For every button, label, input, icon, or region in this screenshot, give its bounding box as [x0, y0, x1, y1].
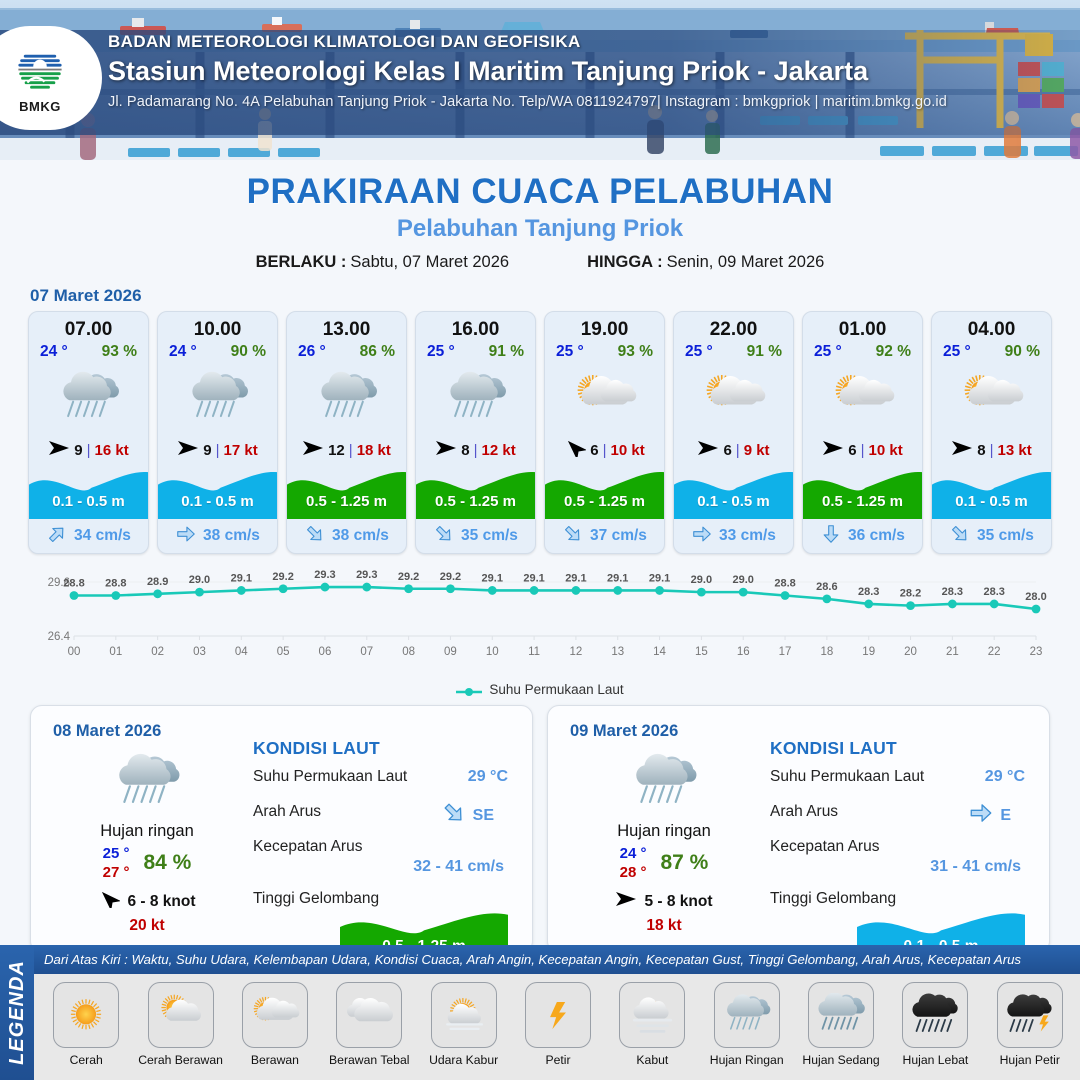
daily-temp-min: 25 ° [103, 845, 130, 862]
card-current-speed: 38 cm/s [203, 527, 260, 545]
current-direction-arrow-icon [968, 800, 994, 831]
card-wind: 8 | 12 kt [416, 435, 535, 465]
svg-text:28.3: 28.3 [942, 586, 963, 598]
current-direction-label: Arah Arus [770, 803, 838, 820]
berlaku-group: BERLAKU :Sabtu, 07 Maret 2026 [256, 253, 509, 272]
card-current-speed: 33 cm/s [719, 527, 776, 545]
card-wave-band: 0.1 - 0.5 m [158, 467, 277, 519]
svg-text:29.0: 29.0 [189, 574, 210, 586]
daily-temp-min: 24 ° [620, 845, 647, 862]
card-temp-hum: 24 ° 90 % [158, 343, 277, 363]
daily-temp-humidity: 25 ° 27 ° 84 % [49, 845, 245, 881]
legenda-section: LEGENDA Dari Atas Kiri : Waktu, Suhu Uda… [0, 945, 1080, 1080]
legenda-items: Cerah Cerah Berawan Berawan Berawan Teba… [34, 974, 1080, 1080]
card-temperature: 24 ° [40, 343, 68, 361]
hourly-forecast-row: 07.00 24 ° 93 % 9 | 16 kt 0.1 - 0.5 m 34… [0, 311, 1080, 554]
hourly-card: 19.00 25 ° 93 % 6 | 10 kt 0.5 - 1.25 m 3… [544, 311, 665, 554]
legend-label: Cerah [40, 1053, 132, 1067]
svg-text:29.2: 29.2 [272, 571, 293, 583]
sst-chart: 29.626.428.80028.80128.90229.00329.10429… [24, 564, 1056, 680]
svg-text:26.4: 26.4 [48, 631, 71, 643]
card-wind: 9 | 17 kt [158, 435, 277, 465]
wind-separator: | [87, 442, 91, 459]
card-humidity: 90 % [231, 343, 266, 361]
wind-separator: | [736, 442, 740, 459]
daily-gust: 18 kt [566, 917, 762, 935]
wave-height-label: Tinggi Gelombang [253, 890, 379, 907]
svg-text:28.9: 28.9 [147, 576, 168, 588]
sea-conditions-title: KONDISI LAUT [253, 738, 518, 759]
card-wave-band: 0.5 - 1.25 m [416, 467, 535, 519]
card-weather-icon [29, 363, 148, 435]
card-wave-height: 0.5 - 1.25 m [545, 493, 664, 510]
daily-gust: 20 kt [49, 917, 245, 935]
card-wave-height: 0.1 - 0.5 m [674, 493, 793, 510]
card-wave-band: 0.1 - 0.5 m [932, 467, 1051, 519]
current-direction-row: Arah Arus SE [253, 803, 518, 829]
legend-icon-box [902, 982, 968, 1048]
card-time: 16.00 [416, 312, 535, 343]
hourly-card: 10.00 24 ° 90 % 9 | 17 kt 0.1 - 0.5 m 38… [157, 311, 278, 554]
card-temperature: 25 ° [943, 343, 971, 361]
card-time: 22.00 [674, 312, 793, 343]
header-text-block: BADAN METEOROLOGI KLIMATOLOGI DAN GEOFIS… [108, 32, 947, 110]
card-time: 19.00 [545, 312, 664, 343]
daily-date: 08 Maret 2026 [53, 722, 161, 741]
daily-weather-icon [49, 750, 245, 816]
daily-summary: Hujan ringan 25 ° 27 ° 84 % 6 - 8 knot 2… [49, 750, 245, 935]
card-time: 01.00 [803, 312, 922, 343]
card-temp-hum: 25 ° 92 % [803, 343, 922, 363]
card-humidity: 86 % [360, 343, 395, 361]
legend-icon-box [336, 982, 402, 1048]
bmkg-logo-icon [13, 43, 67, 97]
card-temp-hum: 25 ° 91 % [416, 343, 535, 363]
card-wind: 8 | 13 kt [932, 435, 1051, 465]
legend-item: Udara Kabur [417, 982, 509, 1067]
daily-wind-speed: 5 - 8 knot [644, 893, 712, 911]
current-direction-arrow-icon [175, 523, 197, 550]
card-wind: 9 | 16 kt [29, 435, 148, 465]
wave-height-row: Tinggi Gelombang 0.5 - 1.25 m [253, 890, 518, 916]
card-current-speed: 35 cm/s [977, 527, 1034, 545]
page-title-block: PRAKIRAAN CUACA PELABUHAN Pelabuhan Tanj… [0, 160, 1080, 272]
legend-item: Hujan Lebat [889, 982, 981, 1067]
card-weather-icon [158, 363, 277, 435]
card-temp-hum: 25 ° 93 % [545, 343, 664, 363]
card-wind-speed: 6 [590, 442, 598, 459]
current-direction-value-group: SE [441, 800, 494, 831]
sst-value: 29 °C [985, 768, 1025, 786]
wind-direction-arrow-icon [177, 439, 199, 461]
card-wave-band: 0.1 - 0.5 m [29, 467, 148, 519]
legend-label: Hujan Petir [984, 1053, 1076, 1067]
legend-label: Cerah Berawan [134, 1053, 226, 1067]
card-humidity: 93 % [618, 343, 653, 361]
card-current: 35 cm/s [416, 519, 535, 553]
svg-text:29.1: 29.1 [565, 572, 586, 584]
card-weather-icon [803, 363, 922, 435]
wave-height-label: Tinggi Gelombang [770, 890, 896, 907]
legend-label: Berawan [229, 1053, 321, 1067]
bmkg-logo-text: BMKG [19, 99, 61, 114]
hingga-group: HINGGA :Senin, 09 Maret 2026 [587, 253, 824, 272]
legend-item: Berawan Tebal [323, 982, 415, 1067]
card-wind-speed: 6 [723, 442, 731, 459]
legend-label: Hujan Sedang [795, 1053, 887, 1067]
sea-conditions-title: KONDISI LAUT [770, 738, 1035, 759]
wind-separator: | [216, 442, 220, 459]
wind-separator: | [349, 442, 353, 459]
legend-item: Kabut [606, 982, 698, 1067]
berlaku-label: BERLAKU : [256, 253, 347, 271]
svg-text:28.3: 28.3 [858, 586, 879, 598]
card-wind: 12 | 18 kt [287, 435, 406, 465]
hourly-date-label: 07 Maret 2026 [30, 286, 1080, 306]
legend-icon-box [997, 982, 1063, 1048]
svg-text:02: 02 [151, 646, 164, 658]
svg-text:23: 23 [1030, 646, 1043, 658]
svg-text:04: 04 [235, 646, 248, 658]
wind-direction-arrow-icon [822, 439, 844, 461]
card-current: 37 cm/s [545, 519, 664, 553]
daily-temp-humidity: 24 ° 28 ° 87 % [566, 845, 762, 881]
legend-label: Hujan Ringan [701, 1053, 793, 1067]
wind-direction-arrow-icon [564, 439, 586, 461]
svg-text:29.2: 29.2 [398, 571, 419, 583]
current-speed-row: Kecepatan Arus 32 - 41 cm/s [253, 838, 518, 864]
card-gust: 9 kt [744, 442, 770, 459]
sst-row: Suhu Permukaan Laut 29 °C [253, 768, 518, 794]
legend-icon-box [148, 982, 214, 1048]
card-weather-icon [416, 363, 535, 435]
card-temp-hum: 25 ° 91 % [674, 343, 793, 363]
legend-item: Petir [512, 982, 604, 1067]
hingga-label: HINGGA : [587, 253, 662, 271]
daily-wind: 6 - 8 knot [49, 890, 245, 913]
wave-height-row: Tinggi Gelombang 0.1 - 0.5 m [770, 890, 1035, 916]
hourly-card: 07.00 24 ° 93 % 9 | 16 kt 0.1 - 0.5 m 34… [28, 311, 149, 554]
legend-icon-box [714, 982, 780, 1048]
svg-text:17: 17 [779, 646, 792, 658]
page-title: PRAKIRAAN CUACA PELABUHAN [0, 172, 1080, 212]
card-weather-icon [932, 363, 1051, 435]
svg-text:20: 20 [904, 646, 917, 658]
wind-direction-arrow-icon [951, 439, 973, 461]
card-gust: 16 kt [95, 442, 129, 459]
svg-text:05: 05 [277, 646, 290, 658]
svg-text:10: 10 [486, 646, 499, 658]
wind-direction-arrow-icon [98, 890, 120, 913]
card-wind-speed: 6 [848, 442, 856, 459]
card-wave-height: 0.5 - 1.25 m [287, 493, 406, 510]
svg-text:12: 12 [570, 646, 583, 658]
page-header: BMKG BADAN METEOROLOGI KLIMATOLOGI DAN G… [0, 0, 1080, 160]
wind-direction-arrow-icon [697, 439, 719, 461]
daily-summary: Hujan ringan 24 ° 28 ° 87 % 5 - 8 knot 1… [566, 750, 762, 935]
svg-text:29.1: 29.1 [523, 572, 544, 584]
legenda-side-text: LEGENDA [6, 960, 29, 1065]
svg-text:29.0: 29.0 [733, 574, 754, 586]
current-direction-arrow-icon [433, 523, 455, 550]
wind-direction-arrow-icon [615, 890, 637, 913]
legend-item: Hujan Petir [984, 982, 1076, 1067]
card-current: 34 cm/s [29, 519, 148, 553]
legend-icon-box [525, 982, 591, 1048]
current-speed-value: 31 - 41 cm/s [930, 858, 1021, 876]
current-direction-arrow-icon [949, 523, 971, 550]
sst-chart-svg: 29.626.428.80028.80128.90229.00329.10429… [24, 564, 1056, 674]
current-speed-label: Kecepatan Arus [770, 838, 879, 855]
daily-date: 09 Maret 2026 [570, 722, 678, 741]
card-time: 04.00 [932, 312, 1051, 343]
current-speed-row: Kecepatan Arus 31 - 41 cm/s [770, 838, 1035, 864]
card-humidity: 93 % [102, 343, 137, 361]
svg-text:28.2: 28.2 [900, 588, 921, 600]
card-wave-height: 0.1 - 0.5 m [158, 493, 277, 510]
validity-row: BERLAKU :Sabtu, 07 Maret 2026 HINGGA :Se… [0, 253, 1080, 272]
card-wave-height: 0.5 - 1.25 m [803, 493, 922, 510]
card-current-speed: 34 cm/s [74, 527, 131, 545]
current-direction-arrow-icon [304, 523, 326, 550]
legend-label: Udara Kabur [417, 1053, 509, 1067]
chart-legend-label: Suhu Permukaan Laut [489, 682, 623, 697]
card-current-speed: 36 cm/s [848, 527, 905, 545]
card-wind-speed: 9 [74, 442, 82, 459]
svg-text:29.1: 29.1 [482, 572, 503, 584]
svg-text:21: 21 [946, 646, 959, 658]
card-time: 10.00 [158, 312, 277, 343]
card-temp-hum: 24 ° 93 % [29, 343, 148, 363]
legend-icon-box [619, 982, 685, 1048]
svg-text:29.1: 29.1 [649, 572, 670, 584]
daily-temp-col: 25 ° 27 ° [103, 845, 130, 881]
legenda-note-bar: Dari Atas Kiri : Waktu, Suhu Udara, Kele… [34, 945, 1080, 974]
card-temp-hum: 25 ° 90 % [932, 343, 1051, 363]
svg-text:13: 13 [611, 646, 624, 658]
legend-label: Hujan Lebat [889, 1053, 981, 1067]
card-temperature: 25 ° [556, 343, 584, 361]
card-wave-band: 0.5 - 1.25 m [287, 467, 406, 519]
hourly-card: 22.00 25 ° 91 % 6 | 9 kt 0.1 - 0.5 m 33 … [673, 311, 794, 554]
svg-text:28.6: 28.6 [816, 581, 837, 593]
berlaku-value: Sabtu, 07 Maret 2026 [350, 253, 509, 271]
svg-text:11: 11 [528, 646, 540, 658]
card-time: 13.00 [287, 312, 406, 343]
daily-temp-max: 27 ° [103, 864, 130, 881]
legend-label: Petir [512, 1053, 604, 1067]
svg-text:07: 07 [360, 646, 373, 658]
legenda-side-label: LEGENDA [0, 945, 34, 1080]
daily-forecast-card: 08 Maret 2026 Hujan ringan 25 ° 27 ° 84 … [30, 705, 533, 953]
card-time: 07.00 [29, 312, 148, 343]
card-wind-speed: 12 [328, 442, 345, 459]
daily-condition: Hujan ringan [566, 822, 762, 841]
station-address: Jl. Padamarang No. 4A Pelabuhan Tanjung … [108, 94, 947, 110]
sst-label: Suhu Permukaan Laut [770, 768, 924, 785]
current-direction-arrow-icon [441, 800, 467, 831]
svg-text:28.8: 28.8 [63, 578, 84, 590]
svg-text:29.3: 29.3 [356, 569, 377, 581]
legend-icon-box [53, 982, 119, 1048]
card-wind-speed: 8 [977, 442, 985, 459]
card-humidity: 90 % [1005, 343, 1040, 361]
card-wave-height: 0.5 - 1.25 m [416, 493, 535, 510]
sst-row: Suhu Permukaan Laut 29 °C [770, 768, 1035, 794]
legenda-note: Dari Atas Kiri : Waktu, Suhu Udara, Kele… [34, 952, 1021, 967]
legend-item: Cerah Berawan [134, 982, 226, 1067]
svg-text:28.8: 28.8 [105, 578, 126, 590]
card-weather-icon [545, 363, 664, 435]
legend-item: Cerah [40, 982, 132, 1067]
daily-temp-col: 24 ° 28 ° [620, 845, 647, 881]
wind-direction-arrow-icon [435, 439, 457, 461]
station-name: Stasiun Meteorologi Kelas I Maritim Tanj… [108, 56, 947, 87]
current-direction-label: Arah Arus [253, 803, 321, 820]
current-direction-row: Arah Arus E [770, 803, 1035, 829]
current-direction-arrow-icon [691, 523, 713, 550]
legend-icon-box [808, 982, 874, 1048]
card-wave-band: 0.5 - 1.25 m [545, 467, 664, 519]
card-wind-speed: 9 [203, 442, 211, 459]
chart-legend: Suhu Permukaan Laut [0, 682, 1080, 697]
hourly-card: 13.00 26 ° 86 % 12 | 18 kt 0.5 - 1.25 m … [286, 311, 407, 554]
legend-line-marker [456, 685, 482, 695]
daily-sea-conditions: KONDISI LAUT Suhu Permukaan Laut 29 °C A… [770, 738, 1035, 916]
svg-text:28.8: 28.8 [774, 578, 795, 590]
card-gust: 12 kt [482, 442, 516, 459]
daily-wind-speed: 6 - 8 knot [127, 893, 195, 911]
sst-label: Suhu Permukaan Laut [253, 768, 407, 785]
card-current: 33 cm/s [674, 519, 793, 553]
daily-weather-icon [566, 750, 762, 816]
sst-value: 29 °C [468, 768, 508, 786]
current-speed-label: Kecepatan Arus [253, 838, 362, 855]
daily-forecast-card: 09 Maret 2026 Hujan ringan 24 ° 28 ° 87 … [547, 705, 1050, 953]
card-wave-band: 0.1 - 0.5 m [674, 467, 793, 519]
current-direction-value: SE [473, 807, 494, 825]
card-gust: 13 kt [998, 442, 1032, 459]
svg-text:01: 01 [109, 646, 122, 658]
current-direction-value: E [1000, 807, 1011, 825]
wind-separator: | [861, 442, 865, 459]
card-current-speed: 38 cm/s [332, 527, 389, 545]
svg-text:19: 19 [862, 646, 875, 658]
hingga-value: Senin, 09 Maret 2026 [667, 253, 825, 271]
wind-direction-arrow-icon [48, 439, 70, 461]
card-temperature: 24 ° [169, 343, 197, 361]
svg-text:29.1: 29.1 [607, 572, 628, 584]
hourly-card: 04.00 25 ° 90 % 8 | 13 kt 0.1 - 0.5 m 35… [931, 311, 1052, 554]
card-gust: 17 kt [224, 442, 258, 459]
svg-text:14: 14 [653, 646, 666, 658]
svg-text:09: 09 [444, 646, 457, 658]
page-subtitle: Pelabuhan Tanjung Priok [0, 215, 1080, 243]
svg-text:28.0: 28.0 [1025, 591, 1046, 603]
card-wave-band: 0.5 - 1.25 m [803, 467, 922, 519]
card-wave-height: 0.1 - 0.5 m [932, 493, 1051, 510]
legend-item: Berawan [229, 982, 321, 1067]
svg-text:29.3: 29.3 [314, 569, 335, 581]
card-gust: 10 kt [869, 442, 903, 459]
card-weather-icon [287, 363, 406, 435]
legend-label: Kabut [606, 1053, 698, 1067]
card-wind: 6 | 10 kt [545, 435, 664, 465]
daily-humidity: 87 % [660, 851, 708, 875]
current-speed-value: 32 - 41 cm/s [413, 858, 504, 876]
wind-separator: | [603, 442, 607, 459]
card-current-speed: 35 cm/s [461, 527, 518, 545]
svg-text:22: 22 [988, 646, 1001, 658]
daily-wind: 5 - 8 knot [566, 890, 762, 913]
wind-separator: | [990, 442, 994, 459]
svg-text:29.1: 29.1 [231, 572, 252, 584]
legend-icon-box [242, 982, 308, 1048]
daily-humidity: 84 % [143, 851, 191, 875]
card-humidity: 92 % [876, 343, 911, 361]
agency-name: BADAN METEOROLOGI KLIMATOLOGI DAN GEOFIS… [108, 32, 947, 52]
card-wave-height: 0.1 - 0.5 m [29, 493, 148, 510]
card-temperature: 25 ° [685, 343, 713, 361]
svg-text:18: 18 [820, 646, 833, 658]
hourly-card: 01.00 25 ° 92 % 6 | 10 kt 0.5 - 1.25 m 3… [802, 311, 923, 554]
card-wind: 6 | 9 kt [674, 435, 793, 465]
card-current: 38 cm/s [287, 519, 406, 553]
daily-forecast-row: 08 Maret 2026 Hujan ringan 25 ° 27 ° 84 … [0, 697, 1080, 953]
card-gust: 18 kt [357, 442, 391, 459]
current-direction-arrow-icon [820, 523, 842, 550]
card-weather-icon [674, 363, 793, 435]
card-wind: 6 | 10 kt [803, 435, 922, 465]
current-direction-arrow-icon [562, 523, 584, 550]
daily-condition: Hujan ringan [49, 822, 245, 841]
card-temperature: 25 ° [427, 343, 455, 361]
card-current: 36 cm/s [803, 519, 922, 553]
svg-text:00: 00 [68, 646, 81, 658]
card-gust: 10 kt [611, 442, 645, 459]
legend-icon-box [431, 982, 497, 1048]
legend-item: Hujan Ringan [701, 982, 793, 1067]
card-current: 38 cm/s [158, 519, 277, 553]
svg-text:28.3: 28.3 [983, 586, 1004, 598]
card-humidity: 91 % [489, 343, 524, 361]
daily-sea-conditions: KONDISI LAUT Suhu Permukaan Laut 29 °C A… [253, 738, 518, 916]
card-humidity: 91 % [747, 343, 782, 361]
current-direction-value-group: E [968, 800, 1011, 831]
daily-temp-max: 28 ° [620, 864, 647, 881]
svg-text:29.2: 29.2 [440, 571, 461, 583]
svg-text:29.0: 29.0 [691, 574, 712, 586]
svg-text:03: 03 [193, 646, 206, 658]
wind-direction-arrow-icon [302, 439, 324, 461]
svg-text:06: 06 [319, 646, 332, 658]
card-current: 35 cm/s [932, 519, 1051, 553]
wind-separator: | [474, 442, 478, 459]
svg-text:16: 16 [737, 646, 750, 658]
card-temperature: 25 ° [814, 343, 842, 361]
card-current-speed: 37 cm/s [590, 527, 647, 545]
legend-item: Hujan Sedang [795, 982, 887, 1067]
svg-text:08: 08 [402, 646, 415, 658]
svg-text:15: 15 [695, 646, 708, 658]
current-direction-arrow-icon [46, 523, 68, 550]
card-wind-speed: 8 [461, 442, 469, 459]
card-temp-hum: 26 ° 86 % [287, 343, 406, 363]
bmkg-logo: BMKG [0, 26, 102, 130]
legend-label: Berawan Tebal [323, 1053, 415, 1067]
hourly-card: 16.00 25 ° 91 % 8 | 12 kt 0.5 - 1.25 m 3… [415, 311, 536, 554]
card-temperature: 26 ° [298, 343, 326, 361]
